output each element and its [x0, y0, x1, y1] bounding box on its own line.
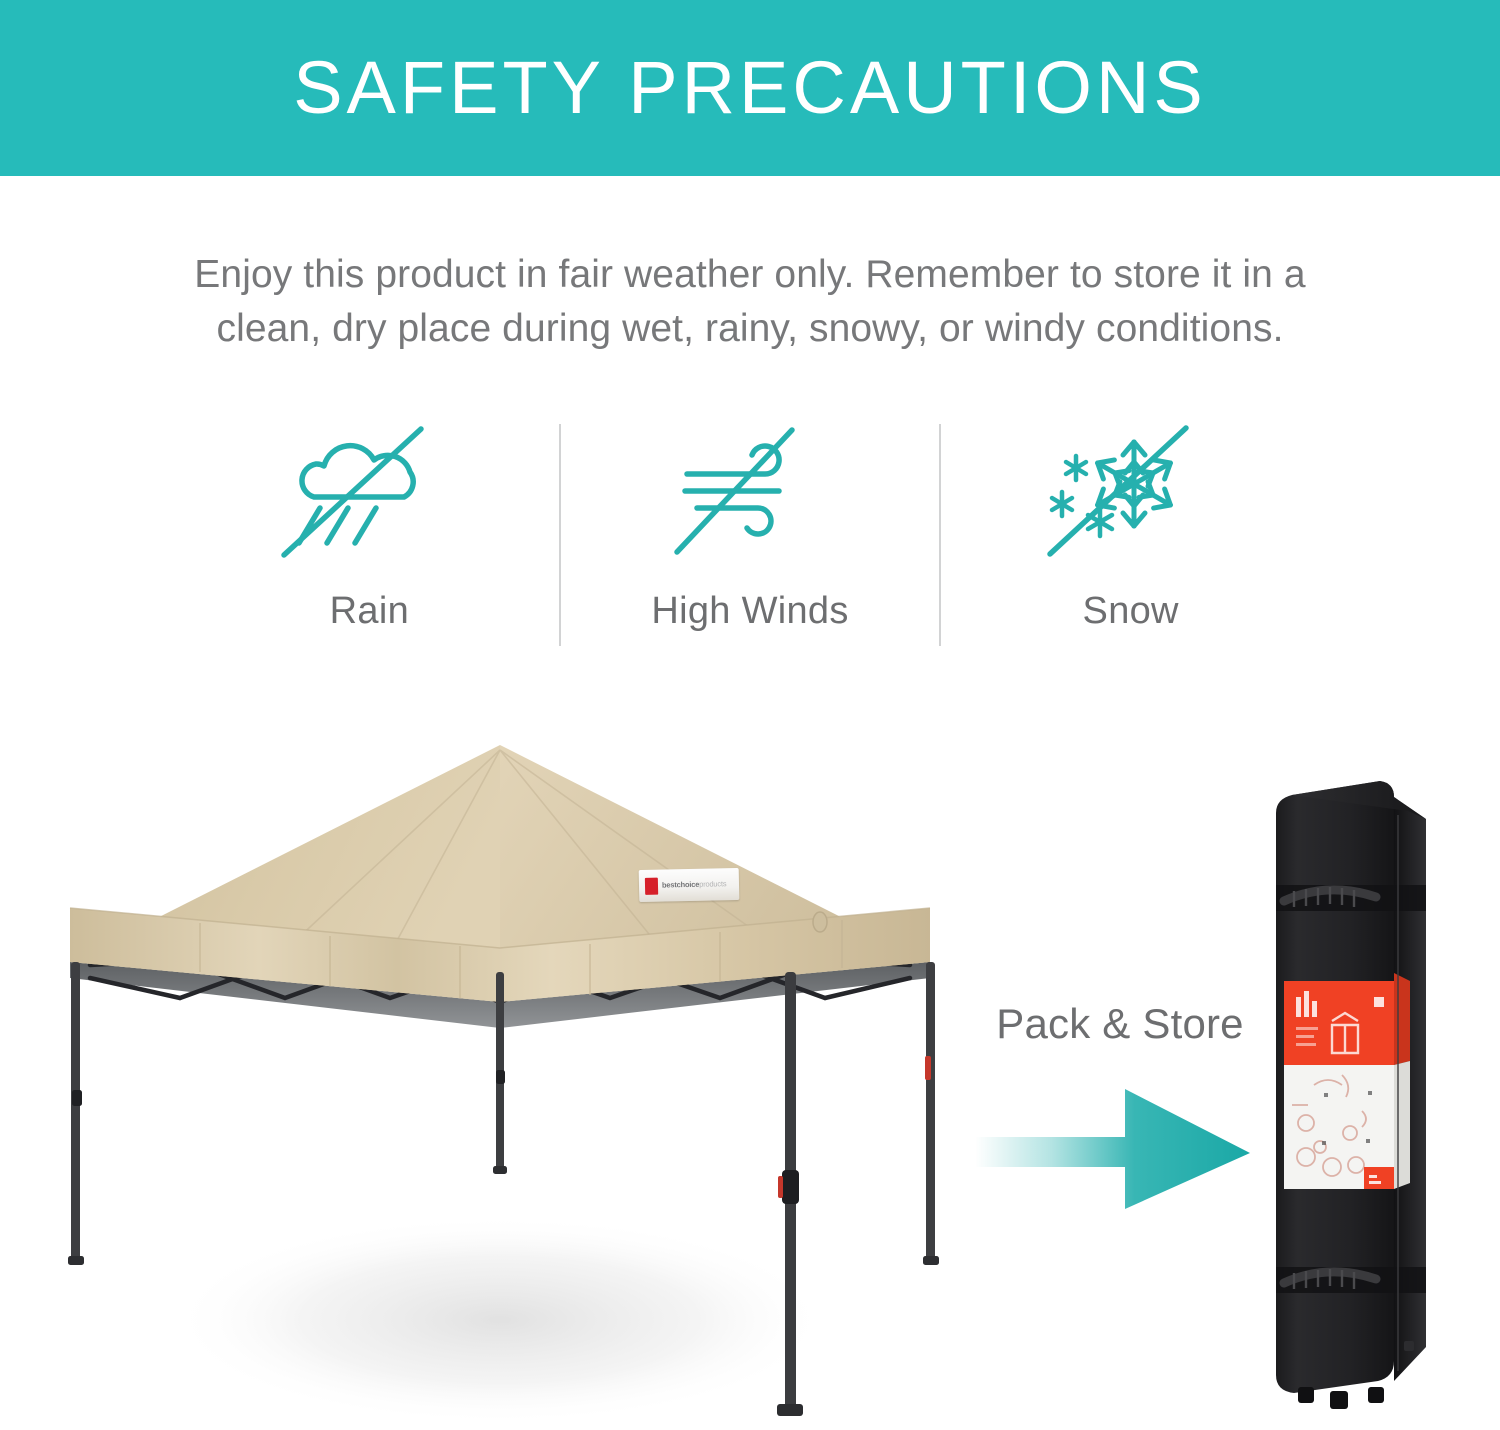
warning-item-snow: Snow	[941, 412, 1320, 633]
brand-name-light: products	[699, 879, 726, 889]
bag-handle-top	[1276, 885, 1426, 911]
brand-wordmark: bestchoiceproducts	[662, 880, 727, 889]
canopy-leg-left	[68, 962, 84, 1265]
page-title: SAFETY PRECAUTIONS	[293, 51, 1207, 125]
no-rain-icon	[274, 412, 464, 572]
bag-handle-bottom	[1276, 1267, 1426, 1293]
bag-product-label	[1284, 973, 1410, 1189]
warning-label-high-winds: High Winds	[651, 590, 848, 633]
warning-label-rain: Rain	[330, 590, 409, 633]
warning-item-high-winds: High Winds	[561, 412, 940, 633]
weather-warning-row: Rain High Winds	[180, 412, 1320, 662]
no-wind-icon	[655, 412, 845, 572]
pack-and-store-label: Pack & Store	[960, 1000, 1280, 1048]
brand-mark-icon	[645, 877, 658, 894]
subtitle-text: Enjoy this product in fair weather only.…	[70, 248, 1430, 356]
canopy-leg-right	[923, 962, 939, 1265]
no-snow-icon	[1036, 412, 1226, 572]
subtitle-line-2: clean, dry place during wet, rainy, snow…	[70, 302, 1430, 356]
right-arrow-icon	[975, 1075, 1255, 1210]
header-banner: SAFETY PRECAUTIONS	[0, 0, 1500, 176]
canopy-brand-patch: bestchoiceproducts	[639, 868, 740, 902]
subtitle-line-1: Enjoy this product in fair weather only.…	[70, 248, 1430, 302]
rolling-carry-bag	[1258, 775, 1448, 1415]
warning-label-snow: Snow	[1083, 590, 1179, 633]
pop-up-canopy	[30, 710, 1010, 1430]
warning-item-rain: Rain	[180, 412, 559, 633]
brand-name-bold: bestchoice	[662, 880, 699, 890]
